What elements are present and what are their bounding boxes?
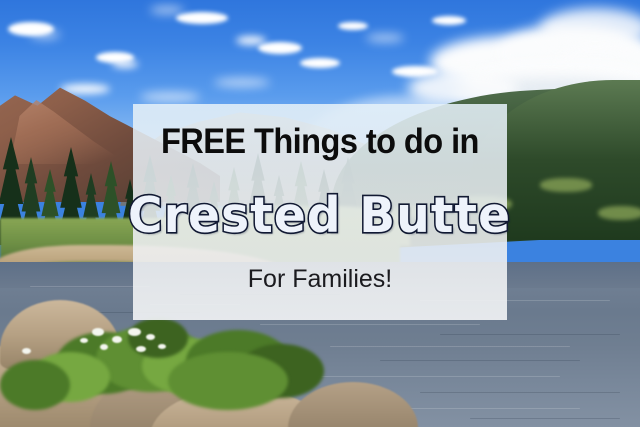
cloud-puff (140, 92, 200, 102)
title-container: Crested Butte (120, 191, 519, 240)
white-wildflower (146, 334, 155, 340)
cloud-puff (150, 6, 184, 14)
subtitle-text: For Families! (248, 267, 392, 292)
cloud-puff (176, 12, 228, 24)
poster-canvas: FREE Things to do in Crested Butte For F… (0, 0, 640, 427)
cloud-puff (338, 22, 368, 30)
ridge-meadow-patch (540, 178, 592, 192)
water-ripple (380, 360, 580, 361)
water-ripple (440, 334, 620, 335)
water-ripple (420, 392, 620, 393)
text-overlay-panel: FREE Things to do in Crested Butte For F… (133, 104, 507, 320)
white-wildflower (22, 348, 31, 354)
cloud-puff (236, 36, 266, 45)
headline-text: FREE Things to do in (161, 124, 479, 161)
foreground-bush (0, 360, 70, 410)
cloud-puff (432, 16, 466, 25)
cloud-puff (112, 60, 138, 68)
cloud-puff (366, 34, 404, 42)
cloud-puff (300, 58, 340, 68)
white-wildflower (100, 344, 108, 350)
ridge-meadow-patch (598, 206, 640, 220)
water-ripple (300, 376, 560, 377)
cloud-bank (540, 8, 640, 48)
foreground-bush (168, 352, 288, 410)
water-ripple (330, 346, 570, 347)
white-wildflower (112, 336, 122, 343)
water-ripple (260, 324, 480, 325)
foreground-bush (128, 318, 188, 358)
cloud-puff (214, 78, 270, 87)
water-ripple (30, 286, 150, 287)
destination-title: Crested Butte (128, 191, 511, 240)
cloud-puff (30, 30, 60, 39)
white-wildflower (92, 328, 104, 336)
cloud-puff (258, 42, 302, 54)
white-wildflower (80, 338, 88, 343)
white-wildflower (136, 346, 146, 352)
water-ripple (470, 418, 620, 419)
white-wildflower (158, 344, 166, 349)
white-wildflower (128, 328, 141, 336)
